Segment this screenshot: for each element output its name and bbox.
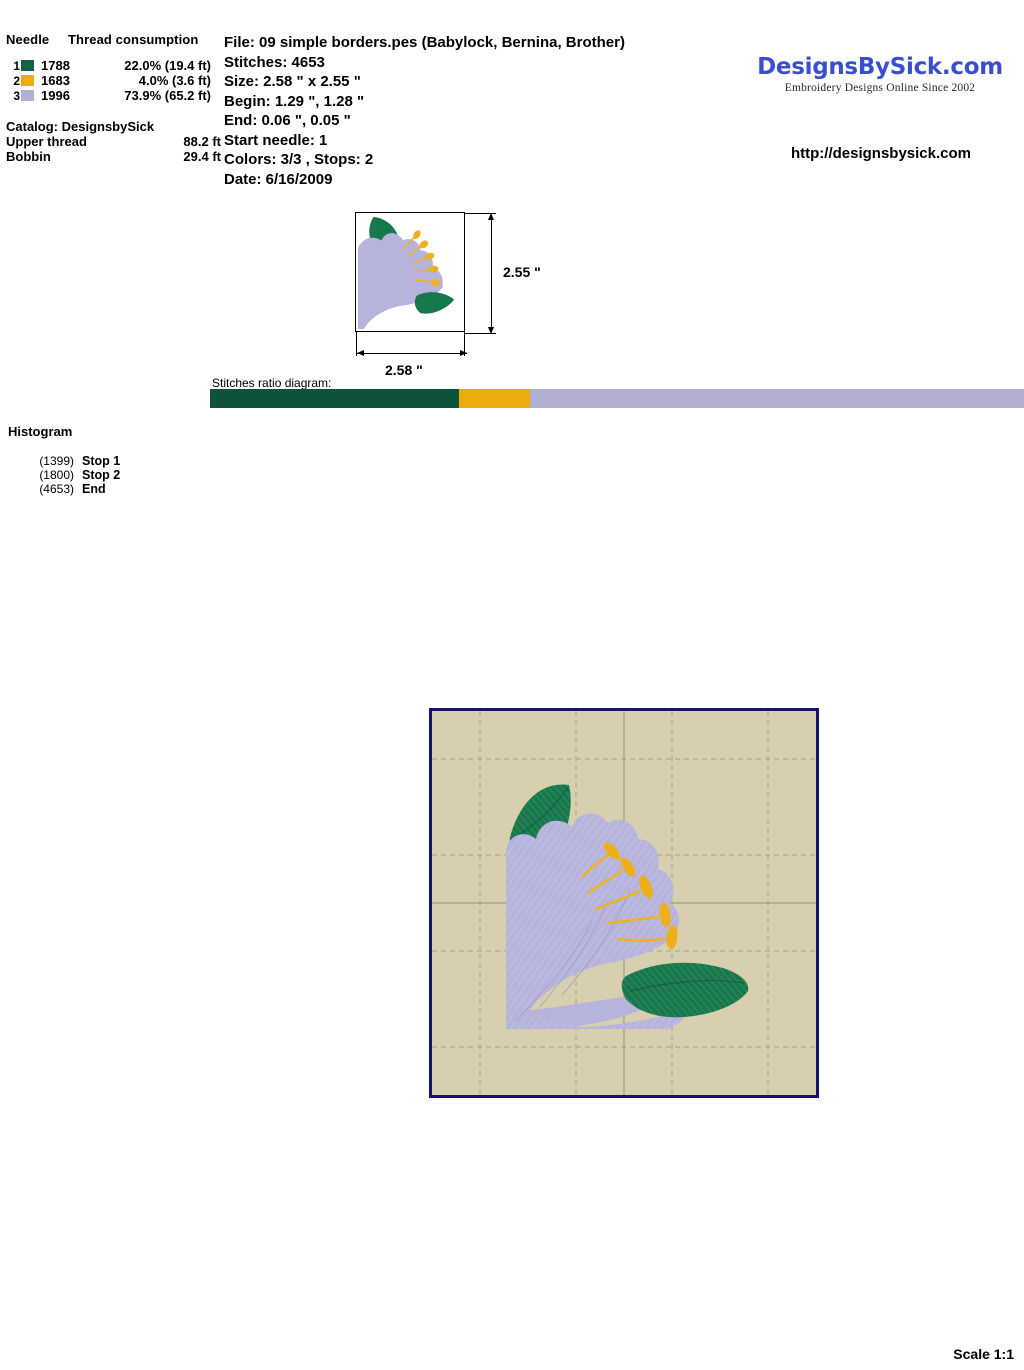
needle-index: 1 <box>6 59 20 74</box>
height-dimension-label: 2.55 " <box>503 264 541 280</box>
arrow-down-icon <box>488 327 494 334</box>
upper-thread-label: Upper thread <box>6 134 87 149</box>
file-info-begin: Begin: 1.29 ", 1.28 " <box>224 92 744 112</box>
needle-consumption: 73.9% (65.2 ft) <box>93 88 211 103</box>
needle-row: 1178822.0% (19.4 ft) <box>6 58 221 73</box>
histogram-count: (1399) <box>8 454 74 468</box>
histogram-row: (4653)End <box>8 482 208 496</box>
histogram-row: (1399)Stop 1 <box>8 454 208 468</box>
needle-row: 216834.0% (3.6 ft) <box>6 73 221 88</box>
needle-index: 2 <box>6 74 20 89</box>
needle-rows: 1178822.0% (19.4 ft) 216834.0% (3.6 ft) … <box>6 58 221 103</box>
histogram-title: Histogram <box>8 424 72 439</box>
catalog-block: Catalog: DesignsbySick Upper thread88.2 … <box>6 119 221 164</box>
file-info-stitches: Stitches: 4653 <box>224 53 744 73</box>
histogram-label: End <box>74 482 106 496</box>
histogram-label: Stop 1 <box>74 454 120 468</box>
logo-wordmark: DesignsBySick.com <box>756 55 1004 80</box>
arrow-left-icon <box>357 350 364 356</box>
arrow-up-icon <box>488 213 494 220</box>
file-info-start-needle: Start needle: 1 <box>224 131 744 151</box>
ratio-segment-green <box>210 389 459 408</box>
file-info-date: Date: 6/16/2009 <box>224 170 744 190</box>
color-swatch-icon <box>21 75 34 86</box>
needle-stitches: 1788 <box>34 58 93 73</box>
thumbnail-artwork <box>356 213 464 331</box>
upper-thread-line: Upper thread88.2 ft <box>6 134 221 149</box>
site-url-link[interactable]: http://designsbysick.com <box>756 145 1006 162</box>
file-info-panel: File: 09 simple borders.pes (Babylock, B… <box>224 33 744 189</box>
histogram-rows: (1399)Stop 1 (1800)Stop 2 (4653)End <box>8 454 208 496</box>
stitches-ratio-label: Stitches ratio diagram: <box>212 376 331 390</box>
needle-row: 3199673.9% (65.2 ft) <box>6 88 221 103</box>
width-dimension-label: 2.58 " <box>385 362 423 378</box>
bobbin-line: Bobbin29.4 ft <box>6 149 221 164</box>
brand-logo: DesignsBySick.com Embroidery Designs Onl… <box>756 55 1004 101</box>
file-info-file: File: 09 simple borders.pes (Babylock, B… <box>224 33 744 53</box>
file-info-size: Size: 2.58 " x 2.55 " <box>224 72 744 92</box>
width-dimension-line <box>357 353 467 354</box>
catalog-label: Catalog: DesignsbySick <box>6 119 154 134</box>
histogram-row: (1800)Stop 2 <box>8 468 208 482</box>
needle-stitches: 1996 <box>34 88 93 103</box>
histogram-count: (4653) <box>8 482 74 496</box>
thread-table-header: NeedleThread consumption <box>6 32 221 47</box>
design-thumbnail <box>355 212 465 332</box>
ratio-segment-gold <box>459 389 530 408</box>
histogram-count: (1800) <box>8 468 74 482</box>
thumbnail-with-dimensions: 2.55 " 2.58 " <box>355 210 575 370</box>
needle-stitches: 1683 <box>34 73 93 88</box>
logo-tagline: Embroidery Designs Online Since 2002 <box>756 81 1004 95</box>
bobbin-value: 29.4 ft <box>183 149 221 164</box>
needle-consumption: 22.0% (19.4 ft) <box>93 58 211 73</box>
height-dimension-line <box>491 213 492 334</box>
header-needle: Needle <box>6 32 68 47</box>
header-thread-consumption: Thread consumption <box>68 32 198 47</box>
stitches-ratio-bar <box>210 389 1024 408</box>
histogram-label: Stop 2 <box>74 468 120 482</box>
color-swatch-icon <box>21 60 34 71</box>
file-info-colors-stops: Colors: 3/3 , Stops: 2 <box>224 150 744 170</box>
design-preview <box>429 708 819 1098</box>
ratio-segment-lavender <box>530 389 1024 408</box>
color-swatch-icon <box>21 90 34 101</box>
file-info-end: End: 0.06 ", 0.05 " <box>224 111 744 131</box>
upper-thread-value: 88.2 ft <box>183 134 221 149</box>
scale-note: Scale 1:1 <box>953 1346 1014 1362</box>
bobbin-label: Bobbin <box>6 149 51 164</box>
needle-consumption: 4.0% (3.6 ft) <box>93 73 211 88</box>
catalog-line: Catalog: DesignsbySick <box>6 119 221 134</box>
needle-index: 3 <box>6 89 20 104</box>
design-preview-artwork <box>432 711 816 1095</box>
thread-consumption-panel: NeedleThread consumption 1178822.0% (19.… <box>6 32 221 164</box>
arrow-right-icon <box>460 350 467 356</box>
